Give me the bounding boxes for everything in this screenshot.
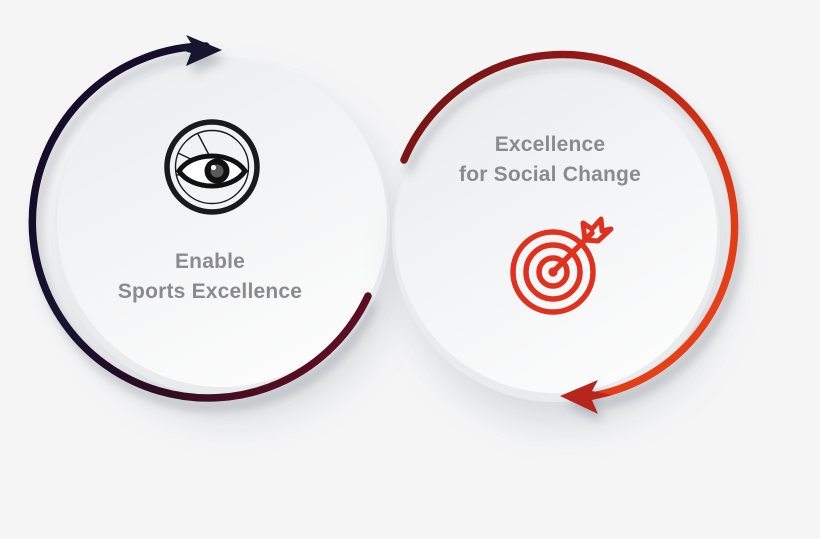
cycle-diagram-svg bbox=[0, 0, 820, 539]
node-right-excellence-for-social-change[interactable] bbox=[392, 55, 735, 414]
node-left-enable-sports-excellence[interactable] bbox=[32, 35, 390, 398]
diagram-canvas: Enable Sports Excellence Excellence for … bbox=[0, 0, 820, 539]
